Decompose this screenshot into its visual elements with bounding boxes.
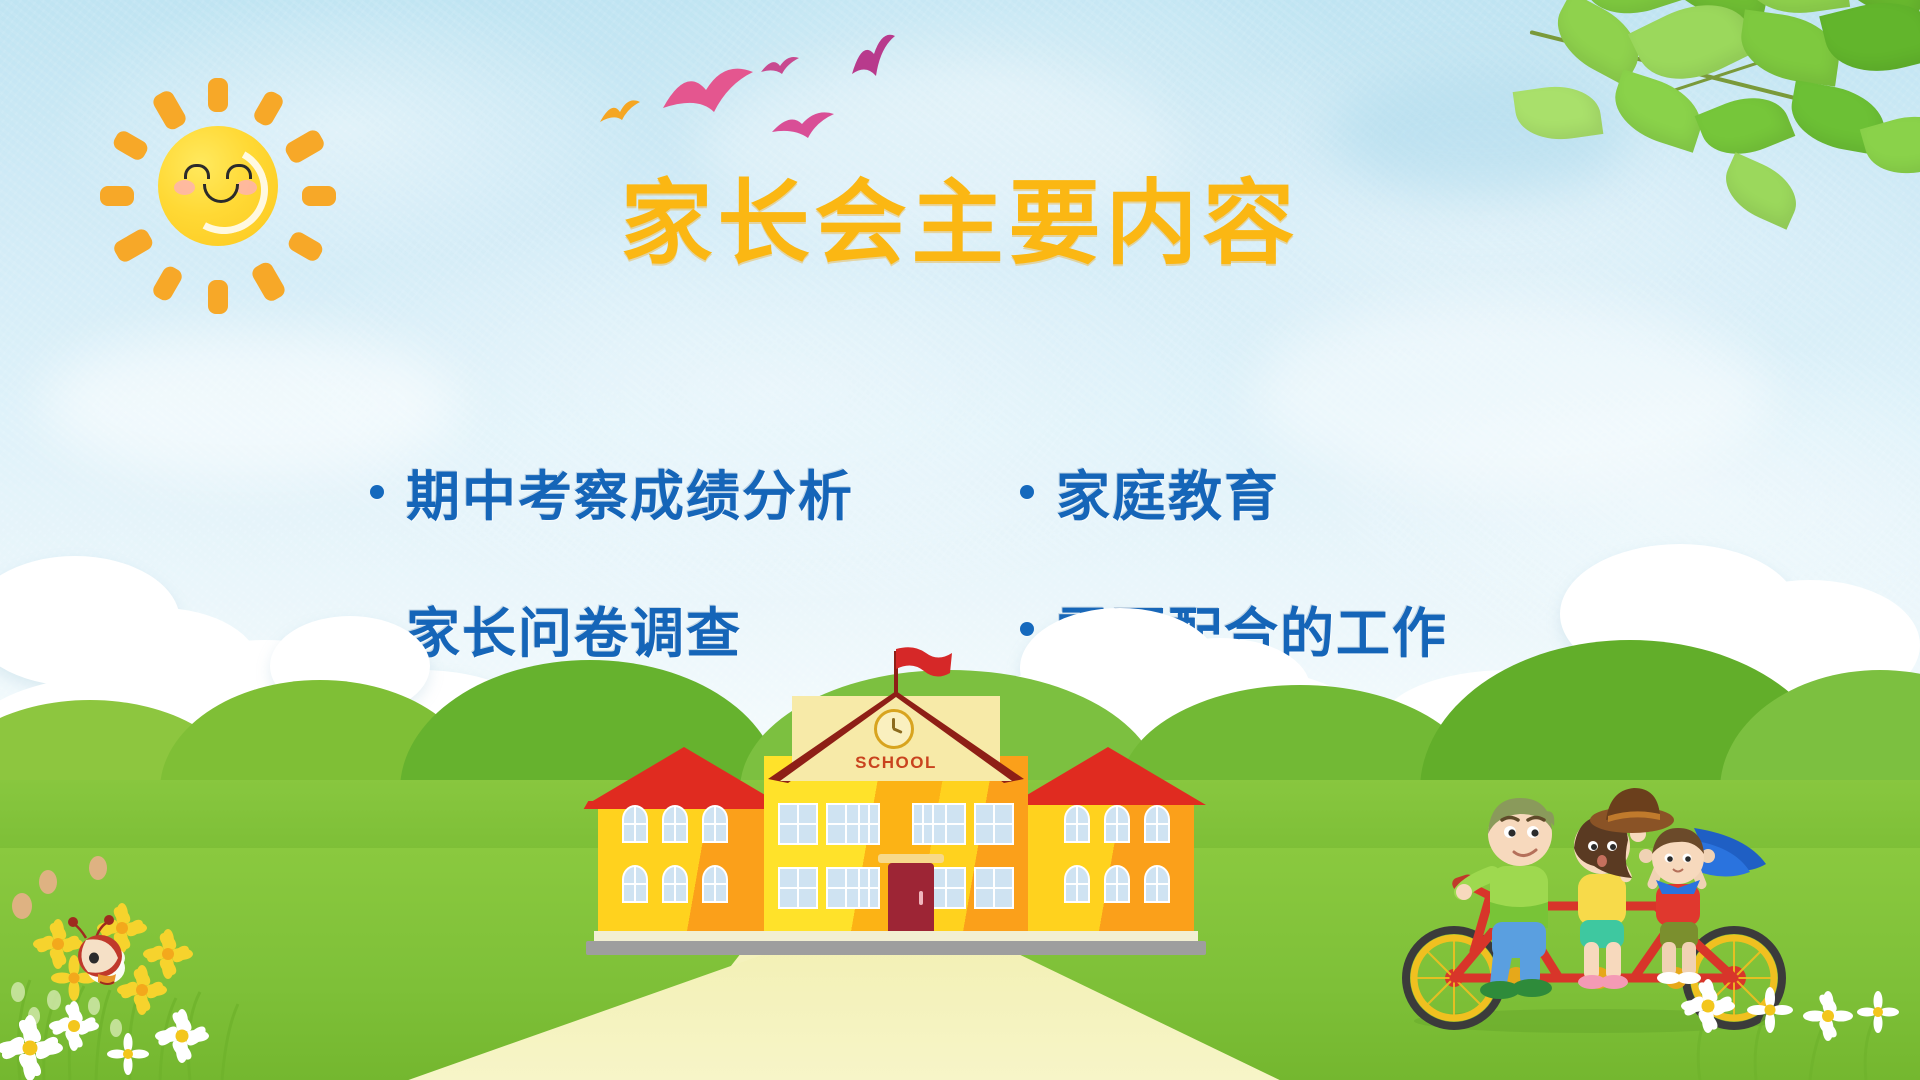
bullet-dot-icon <box>370 485 384 499</box>
page-title: 家长会主要内容 <box>0 178 1920 270</box>
window <box>1144 805 1170 843</box>
window <box>1064 805 1090 843</box>
door-canopy <box>878 854 944 863</box>
door-handle-icon <box>919 891 923 905</box>
window <box>622 805 648 843</box>
school-plinth <box>594 931 1198 941</box>
flag-icon <box>896 647 952 677</box>
bird-icon <box>848 28 898 80</box>
school-foundation <box>586 941 1206 955</box>
window <box>702 805 728 843</box>
meadow-decoration <box>0 850 420 1080</box>
clock-icon <box>874 709 914 749</box>
window <box>912 803 934 845</box>
slide-canvas: 家长会主要内容 期中考察成绩分析 家庭教育 家长问卷调查 需要配合的工作 <box>0 0 1920 1080</box>
bird-icon <box>660 60 756 124</box>
window <box>974 803 1014 845</box>
bullet-dot-icon <box>1020 485 1034 499</box>
window <box>778 803 818 845</box>
school-sign: SCHOOL <box>586 753 1206 773</box>
meadow-decoration-right <box>1660 930 1920 1080</box>
school-door[interactable] <box>888 863 934 937</box>
window <box>858 803 880 845</box>
father-rider <box>1456 798 1554 999</box>
window <box>1104 865 1130 903</box>
bird-icon <box>598 92 642 128</box>
window <box>1064 865 1090 903</box>
window <box>778 867 818 909</box>
window <box>858 867 880 909</box>
window <box>974 867 1014 909</box>
bird-icon <box>760 52 800 78</box>
bird-icon <box>770 108 836 142</box>
window <box>662 865 688 903</box>
window <box>1144 865 1170 903</box>
school-building: SCHOOL <box>586 690 1206 955</box>
window <box>662 805 688 843</box>
window <box>1104 805 1130 843</box>
window <box>702 865 728 903</box>
window <box>622 865 648 903</box>
